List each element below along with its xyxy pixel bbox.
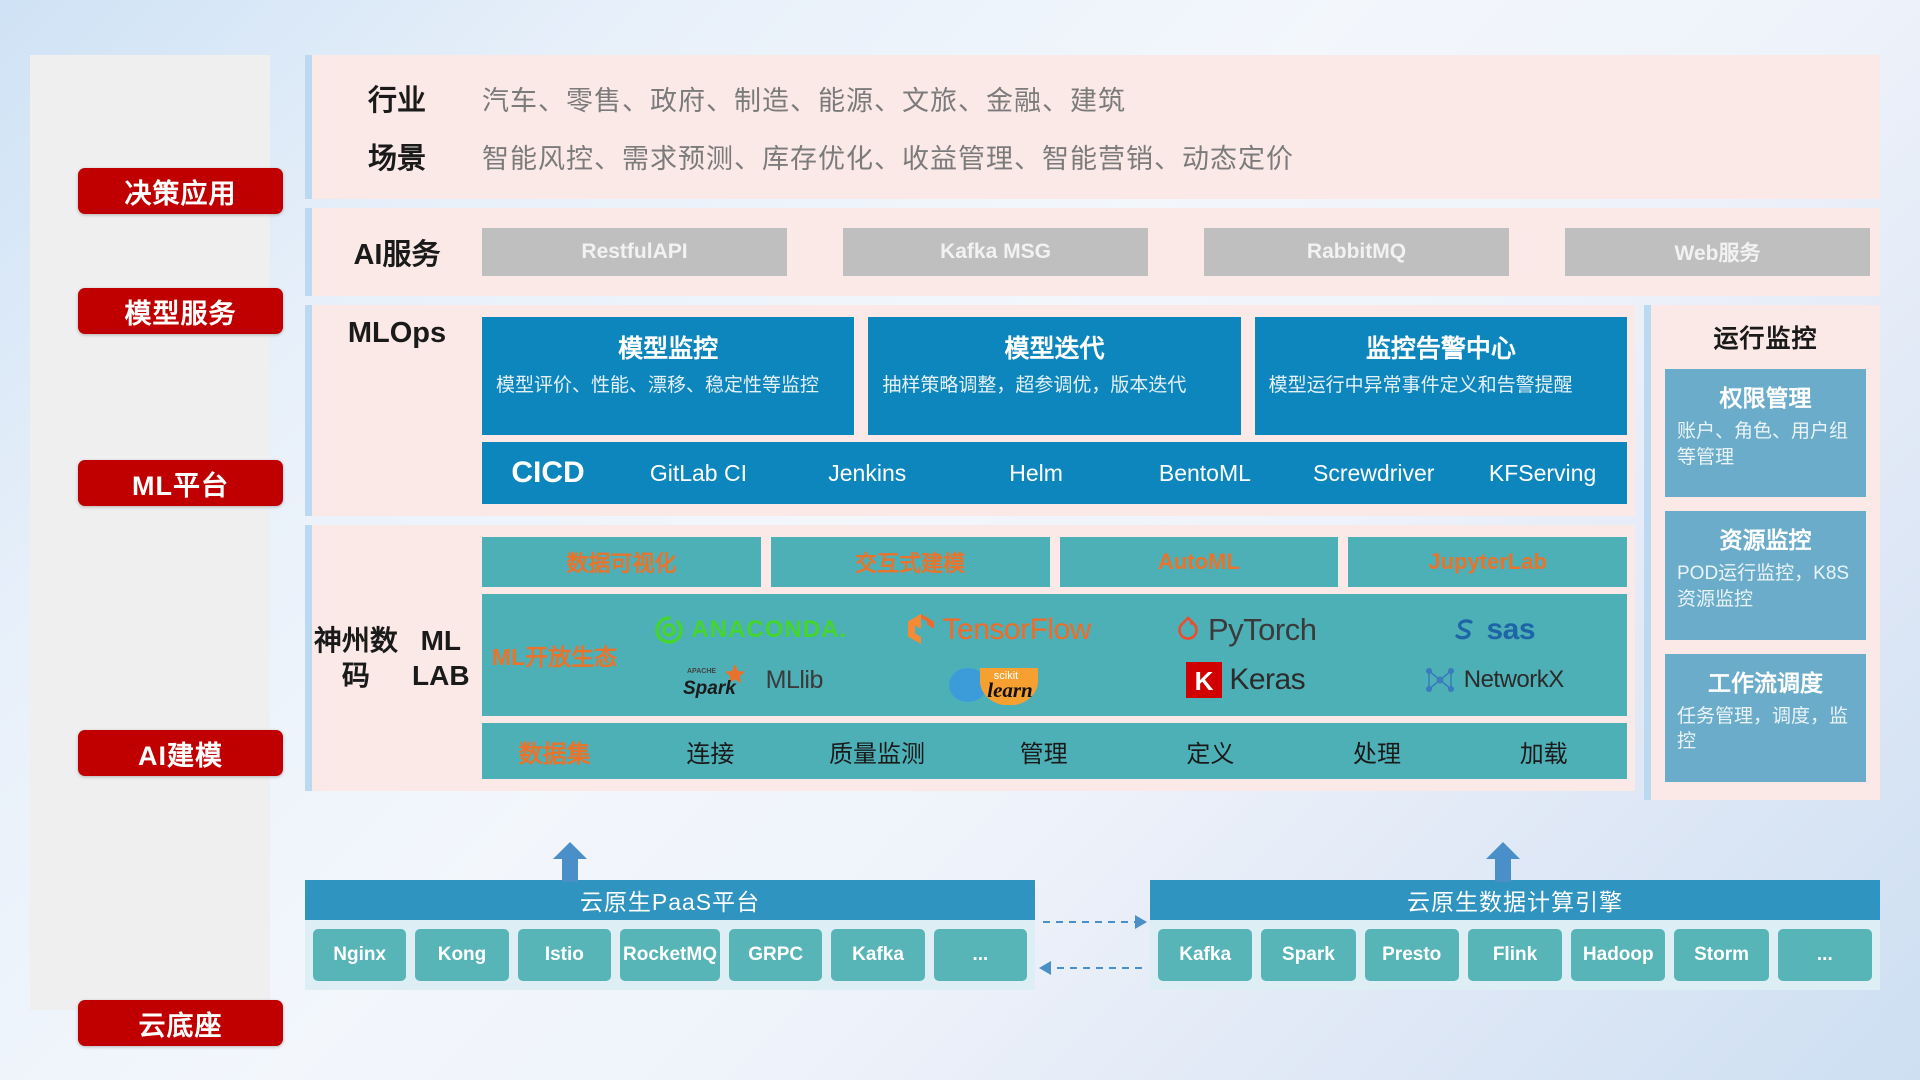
mlops-card-alert-center[interactable]: 监控告警中心 模型运行中异常事件定义和告警提醒 xyxy=(1255,317,1627,435)
anaconda-logo-item: ANACONDA. xyxy=(654,615,847,645)
paas-chip-istio[interactable]: Istio xyxy=(518,929,611,981)
rail-tag-decision-app[interactable]: 决策应用 xyxy=(78,168,283,214)
engine-chip-presto[interactable]: Presto xyxy=(1365,929,1459,981)
rail-tag-ml-platform[interactable]: ML平台 xyxy=(78,460,283,506)
dataset-item-define[interactable]: 定义 xyxy=(1127,734,1294,769)
industry-value: 汽车、零售、政府、制造、能源、文旅、金融、建筑 xyxy=(482,79,1126,118)
mlops-band: MLOps 模型监控 模型评价、性能、漂移、稳定性等监控 模型迭代 抽样策略调整… xyxy=(305,305,1635,516)
dataset-item-process[interactable]: 处理 xyxy=(1294,734,1461,769)
dataset-item-connect[interactable]: 连接 xyxy=(627,734,794,769)
svg-text:Spark: Spark xyxy=(683,678,737,699)
anaconda-icon xyxy=(654,615,684,645)
ml-lab-tool-jupyterlab[interactable]: JupyterLab xyxy=(1348,537,1627,587)
cicd-item-kfserving[interactable]: KFServing xyxy=(1458,461,1627,485)
platform-left-column: MLOps 模型监控 模型评价、性能、漂移、稳定性等监控 模型迭代 抽样策略调整… xyxy=(305,305,1635,800)
rail-tag-cloud-base[interactable]: 云底座 xyxy=(78,1000,283,1046)
ml-lab-band: 神州数码 ML LAB 数据可视化 交互式建模 AutoML JupyterLa… xyxy=(305,525,1635,791)
pytorch-label: PyTorch xyxy=(1208,612,1316,648)
paas-chip-kafka[interactable]: Kafka xyxy=(831,929,924,981)
keras-label: Keras xyxy=(1229,663,1305,697)
ml-lab-key-line1: 神州数码 xyxy=(312,623,400,693)
monitoring-card-desc: 任务管理，调度，监控 xyxy=(1677,704,1854,755)
paas-chip-more[interactable]: ... xyxy=(934,929,1027,981)
ml-lab-tool-row: 数据可视化 交互式建模 AutoML JupyterLab xyxy=(482,537,1627,587)
layer-rail: 决策应用 模型服务 ML平台 AI建模 云底座 xyxy=(30,55,270,1010)
paas-chip-rocketmq[interactable]: RocketMQ xyxy=(620,929,720,981)
scenario-line: 场景 智能风控、需求预测、库存优化、收益管理、智能营销、动态定价 xyxy=(312,135,1880,177)
ai-service-item-kafka-msg[interactable]: Kafka MSG xyxy=(843,228,1148,276)
mllib-label: MLlib xyxy=(766,666,823,695)
scikit-learn-icon: scikit learn xyxy=(944,655,1052,705)
sas-logo-item: sas xyxy=(1451,613,1535,647)
mlops-card-row: 模型监控 模型评价、性能、漂移、稳定性等监控 模型迭代 抽样策略调整，超参调优，… xyxy=(482,317,1627,435)
keras-icon: K xyxy=(1186,662,1222,698)
ml-lab-content: 数据可视化 交互式建模 AutoML JupyterLab ML开放生态 xyxy=(482,537,1635,779)
spark-mllib-logo-item: APACHE Spark MLlib xyxy=(679,660,823,700)
paas-platform-title: 云原生PaaS平台 xyxy=(305,880,1035,920)
cicd-item-helm[interactable]: Helm xyxy=(952,461,1121,485)
monitoring-card-desc: POD运行监控，K8S资源监控 xyxy=(1677,561,1854,612)
engine-chip-storm[interactable]: Storm xyxy=(1674,929,1768,981)
paas-chip-kong[interactable]: Kong xyxy=(415,929,508,981)
pytorch-logo-item: PyTorch xyxy=(1175,612,1316,648)
main-stack: 行业 汽车、零售、政府、制造、能源、文旅、金融、建筑 场景 智能风控、需求预测、… xyxy=(305,55,1880,800)
ml-lab-tool-automl[interactable]: AutoML xyxy=(1060,537,1339,587)
industry-line: 行业 汽车、零售、政府、制造、能源、文旅、金融、建筑 xyxy=(312,77,1880,119)
pytorch-icon xyxy=(1175,615,1201,645)
engine-chip-more[interactable]: ... xyxy=(1778,929,1872,981)
data-compute-engine-card: 云原生数据计算引擎 Kafka Spark Presto Flink Hadoo… xyxy=(1150,880,1880,990)
ml-lab-key: 神州数码 ML LAB xyxy=(312,537,482,779)
mlops-content: 模型监控 模型评价、性能、漂移、稳定性等监控 模型迭代 抽样策略调整，超参调优，… xyxy=(482,317,1635,504)
svg-text:APACHE: APACHE xyxy=(687,668,716,675)
engine-chip-hadoop[interactable]: Hadoop xyxy=(1571,929,1665,981)
mlops-card-title: 模型迭代 xyxy=(882,329,1226,365)
monitoring-card-permission[interactable]: 权限管理 账户、角色、用户组等管理 xyxy=(1665,369,1866,497)
rail-tag-model-service[interactable]: 模型服务 xyxy=(78,288,283,334)
cicd-item-jenkins[interactable]: Jenkins xyxy=(783,461,952,485)
svg-text:learn: learn xyxy=(987,678,1033,702)
scenario-value: 智能风控、需求预测、库存优化、收益管理、智能营销、动态定价 xyxy=(482,137,1294,176)
ai-service-key: AI服务 xyxy=(312,231,482,273)
monitoring-card-title: 工作流调度 xyxy=(1677,664,1854,698)
cicd-bar: CICD GitLab CI Jenkins Helm BentoML Scre… xyxy=(482,442,1627,504)
engine-up-arrow-icon xyxy=(1486,842,1520,882)
running-monitoring-panel: 运行监控 权限管理 账户、角色、用户组等管理 资源监控 POD运行监控，K8S资… xyxy=(1644,305,1880,800)
engine-chip-row: Kafka Spark Presto Flink Hadoop Storm ..… xyxy=(1150,920,1880,990)
ml-ecosystem-label: ML开放生态 xyxy=(482,638,627,672)
cicd-item-gitlab-ci[interactable]: GitLab CI xyxy=(614,461,783,485)
mlops-card-desc: 抽样策略调整，超参调优，版本迭代 xyxy=(882,373,1226,400)
dataset-label: 数据集 xyxy=(482,734,627,769)
engine-chip-kafka[interactable]: Kafka xyxy=(1158,929,1252,981)
running-monitoring-title: 运行监控 xyxy=(1665,319,1866,355)
tensorflow-label: TensorFlow xyxy=(943,613,1091,647)
mlops-card-model-monitoring[interactable]: 模型监控 模型评价、性能、漂移、稳定性等监控 xyxy=(482,317,854,435)
sas-icon xyxy=(1451,616,1479,644)
mlops-card-desc: 模型评价、性能、漂移、稳定性等监控 xyxy=(496,373,840,400)
dataset-item-load[interactable]: 加载 xyxy=(1460,734,1627,769)
networkx-label: NetworkX xyxy=(1464,668,1564,692)
ml-lab-tool-interactive-modeling[interactable]: 交互式建模 xyxy=(771,537,1050,587)
paas-up-arrow-icon xyxy=(553,842,587,882)
paas-chip-row: Nginx Kong Istio RocketMQ GRPC Kafka ... xyxy=(305,920,1035,990)
ml-ecosystem-logos: ANACONDA. TensorFlow xyxy=(627,601,1627,709)
decision-application-band: 行业 汽车、零售、政府、制造、能源、文旅、金融、建筑 场景 智能风控、需求预测、… xyxy=(305,55,1880,199)
platform-middle: MLOps 模型监控 模型评价、性能、漂移、稳定性等监控 模型迭代 抽样策略调整… xyxy=(305,305,1880,800)
cloud-foundation: 云原生PaaS平台 Nginx Kong Istio RocketMQ GRPC… xyxy=(305,880,1880,1045)
ai-service-item-web-service[interactable]: Web服务 xyxy=(1565,228,1870,276)
networkx-logo-item: NetworkX xyxy=(1423,664,1564,696)
ai-service-list: RestfulAPI Kafka MSG RabbitMQ Web服务 xyxy=(482,228,1880,276)
anaconda-label: ANACONDA. xyxy=(691,616,847,644)
mlops-card-title: 模型监控 xyxy=(496,329,840,365)
svg-text:K: K xyxy=(1195,666,1214,696)
networkx-icon xyxy=(1423,664,1457,696)
cicd-item-bentoml[interactable]: BentoML xyxy=(1120,461,1289,485)
ai-service-item-restfulapi[interactable]: RestfulAPI xyxy=(482,228,787,276)
bidirectional-dashed-arrow-icon xyxy=(1035,902,1150,992)
mlops-card-title: 监控告警中心 xyxy=(1269,329,1613,365)
monitoring-card-desc: 账户、角色、用户组等管理 xyxy=(1677,419,1854,470)
paas-chip-grpc[interactable]: GRPC xyxy=(729,929,822,981)
dataset-item-manage[interactable]: 管理 xyxy=(960,734,1127,769)
tensorflow-icon xyxy=(906,613,936,647)
monitoring-card-title: 资源监控 xyxy=(1677,521,1854,555)
monitoring-card-workflow[interactable]: 工作流调度 任务管理，调度，监控 xyxy=(1665,654,1866,782)
sas-label: sas xyxy=(1486,613,1535,647)
data-compute-engine-title: 云原生数据计算引擎 xyxy=(1150,880,1880,920)
spark-icon: APACHE Spark xyxy=(679,660,759,700)
paas-platform-card: 云原生PaaS平台 Nginx Kong Istio RocketMQ GRPC… xyxy=(305,880,1035,990)
ml-lab-tool-data-visualization[interactable]: 数据可视化 xyxy=(482,537,761,587)
mlops-card-model-iteration[interactable]: 模型迭代 抽样策略调整，超参调优，版本迭代 xyxy=(868,317,1240,435)
scikit-learn-logo-item: scikit learn xyxy=(944,655,1052,705)
mlops-key: MLOps xyxy=(312,317,482,504)
mlops-card-desc: 模型运行中异常事件定义和告警提醒 xyxy=(1269,373,1613,400)
keras-logo-item: K Keras xyxy=(1186,662,1305,698)
rail-tag-ai-modeling[interactable]: AI建模 xyxy=(78,730,283,776)
ml-lab-key-line2: ML LAB xyxy=(400,623,482,693)
architecture-diagram: 决策应用 模型服务 ML平台 AI建模 云底座 行业 汽车、零售、政府、制造、能… xyxy=(0,0,1920,1080)
tensorflow-logo-item: TensorFlow xyxy=(906,613,1091,647)
monitoring-card-resource[interactable]: 资源监控 POD运行监控，K8S资源监控 xyxy=(1665,511,1866,639)
ml-ecosystem-bar: ML开放生态 ANACONDA. xyxy=(482,594,1627,716)
ai-service-band: AI服务 RestfulAPI Kafka MSG RabbitMQ Web服务 xyxy=(305,208,1880,296)
dataset-item-quality-monitor[interactable]: 质量监测 xyxy=(794,734,961,769)
cicd-item-screwdriver[interactable]: Screwdriver xyxy=(1289,461,1458,485)
engine-chip-spark[interactable]: Spark xyxy=(1261,929,1355,981)
cicd-label: CICD xyxy=(482,456,614,490)
monitoring-card-title: 权限管理 xyxy=(1677,379,1854,413)
engine-chip-flink[interactable]: Flink xyxy=(1468,929,1562,981)
scenario-key: 场景 xyxy=(312,135,482,177)
paas-chip-nginx[interactable]: Nginx xyxy=(313,929,406,981)
dataset-bar: 数据集 连接 质量监测 管理 定义 处理 加载 xyxy=(482,723,1627,779)
ai-service-item-rabbitmq[interactable]: RabbitMQ xyxy=(1204,228,1509,276)
industry-key: 行业 xyxy=(312,77,482,119)
